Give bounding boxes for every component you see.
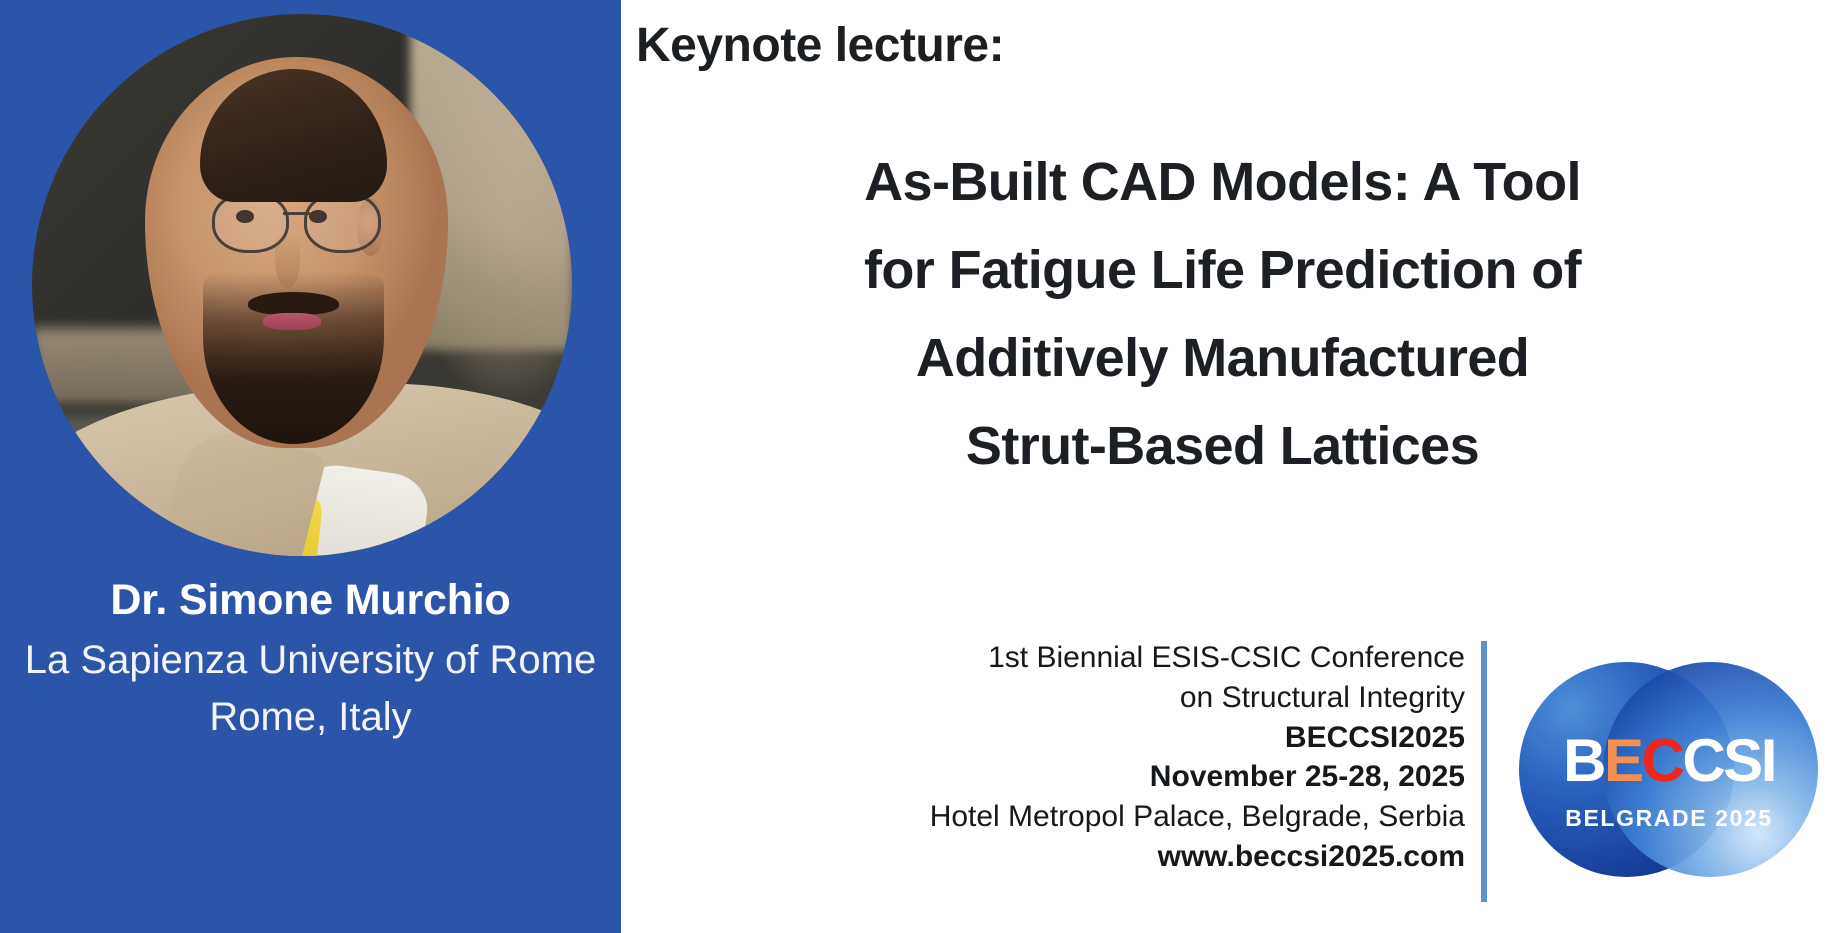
beccsi-logo: BECCSI BELGRADE 2025 — [1519, 653, 1819, 891]
logo-subtitle: BELGRADE 2025 — [1519, 805, 1819, 832]
keynote-kicker: Keynote lecture: — [636, 18, 1004, 73]
talk-title-line-1: As-Built CAD Models: A Tool — [640, 138, 1805, 226]
conference-dates: November 25-28, 2025 — [745, 757, 1465, 797]
glasses-bridge — [283, 212, 310, 215]
speaker-name: Dr. Simone Murchio — [0, 576, 621, 625]
conference-name-line-1: 1st Biennial ESIS-CSIC Conference — [745, 638, 1465, 678]
portrait-head — [145, 57, 447, 447]
speaker-affiliation: La Sapienza University of Rome — [14, 632, 607, 689]
logo-letter-e: E — [1604, 727, 1642, 794]
talk-title: As-Built CAD Models: A Tool for Fatigue … — [640, 138, 1805, 490]
conference-venue: Hotel Metropol Palace, Belgrade, Serbia — [745, 797, 1465, 837]
portrait-photo — [32, 14, 572, 556]
logo-letters-csi: CSI — [1682, 727, 1775, 794]
conference-acronym: BECCSI2025 — [745, 718, 1465, 758]
talk-title-line-2: for Fatigue Life Prediction of — [640, 226, 1805, 314]
talk-title-line-3: Additively Manufactured — [640, 314, 1805, 402]
talk-title-line-4: Strut-Based Lattices — [640, 402, 1805, 490]
portrait-hair — [200, 69, 387, 202]
speaker-affiliation-block: La Sapienza University of Rome Rome, Ita… — [14, 632, 607, 746]
keynote-announcement-slide: Dr. Simone Murchio La Sapienza Universit… — [0, 0, 1832, 933]
portrait-nose — [275, 233, 299, 288]
speaker-panel: Dr. Simone Murchio La Sapienza Universit… — [0, 0, 621, 933]
logo-letter-c: C — [1642, 727, 1683, 794]
speaker-portrait — [32, 14, 572, 556]
conference-name-line-2: on Structural Integrity — [745, 678, 1465, 718]
speaker-location: Rome, Italy — [14, 689, 607, 746]
conference-details: 1st Biennial ESIS-CSIC Conference on Str… — [745, 638, 1465, 877]
portrait-mustache — [248, 292, 339, 315]
logo-letter-b: B — [1563, 727, 1604, 794]
portrait-lips — [263, 313, 320, 330]
conference-website[interactable]: www.beccsi2025.com — [745, 837, 1465, 877]
vertical-divider — [1481, 641, 1487, 902]
logo-wordmark: BECCSI — [1519, 731, 1819, 791]
